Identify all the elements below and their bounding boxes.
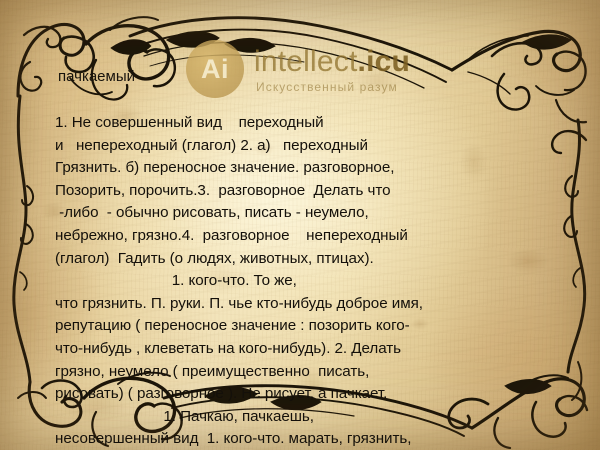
watermark-title-light: intellect [254,45,358,78]
definition-body: 1. Не совершенный вид переходныйи непере… [55,112,553,450]
definition-line: и непереходный (глагол) 2. а) переходный [55,135,553,158]
definition-line: что-нибудь , клеветать на кого-нибудь). … [55,338,553,361]
definition-line: 1. Пачкаю, пачкаешь, [55,406,553,429]
definition-line: -либо - обычно рисовать, писать - неумел… [55,202,553,225]
definition-line: что грязнить. П. руки. П. чье кто-нибудь… [55,293,553,316]
definition-line: (глагол) Гадить (о людях, животных, птиц… [55,248,553,271]
definition-line: Грязнить. б) переносное значение. разгов… [55,157,553,180]
definition-line: грязно, неумело ( преимущественно писать… [55,361,553,384]
watermark-logo-text: Ai [186,40,244,98]
definition-line: небрежно, грязно.4. разговорное неперехо… [55,225,553,248]
definition-line: 1. Не совершенный вид переходный [55,112,553,135]
border-right-vertical [552,120,586,372]
watermark-title-bold: .icu [358,45,410,78]
definition-line: рисовать) ( разговорное ). Не рисует, а … [55,383,553,406]
watermark-title: intellect.icu [254,46,410,78]
definition-line: Позорить, порочить.3. разговорное Делать… [55,180,553,203]
definition-line: несовершенный вид 1. кого-что. марать, г… [55,428,553,450]
definition-line: 1. кого-что. То же, [55,270,553,293]
headword: пачкаемый [58,68,135,85]
slide-canvas: Ai intellect.icu Искусственный разум пач… [0,0,600,450]
watermark-logo-icon: Ai [186,40,244,98]
border-left-vertical [14,96,33,382]
corner-flourish-top-right [452,31,586,122]
watermark: Ai intellect.icu Искусственный разум [186,40,486,100]
definition-line: репутацию ( переносное значение : позори… [55,315,553,338]
corner-flourish-top-left [18,17,452,99]
watermark-subtitle: Искусственный разум [256,80,398,94]
